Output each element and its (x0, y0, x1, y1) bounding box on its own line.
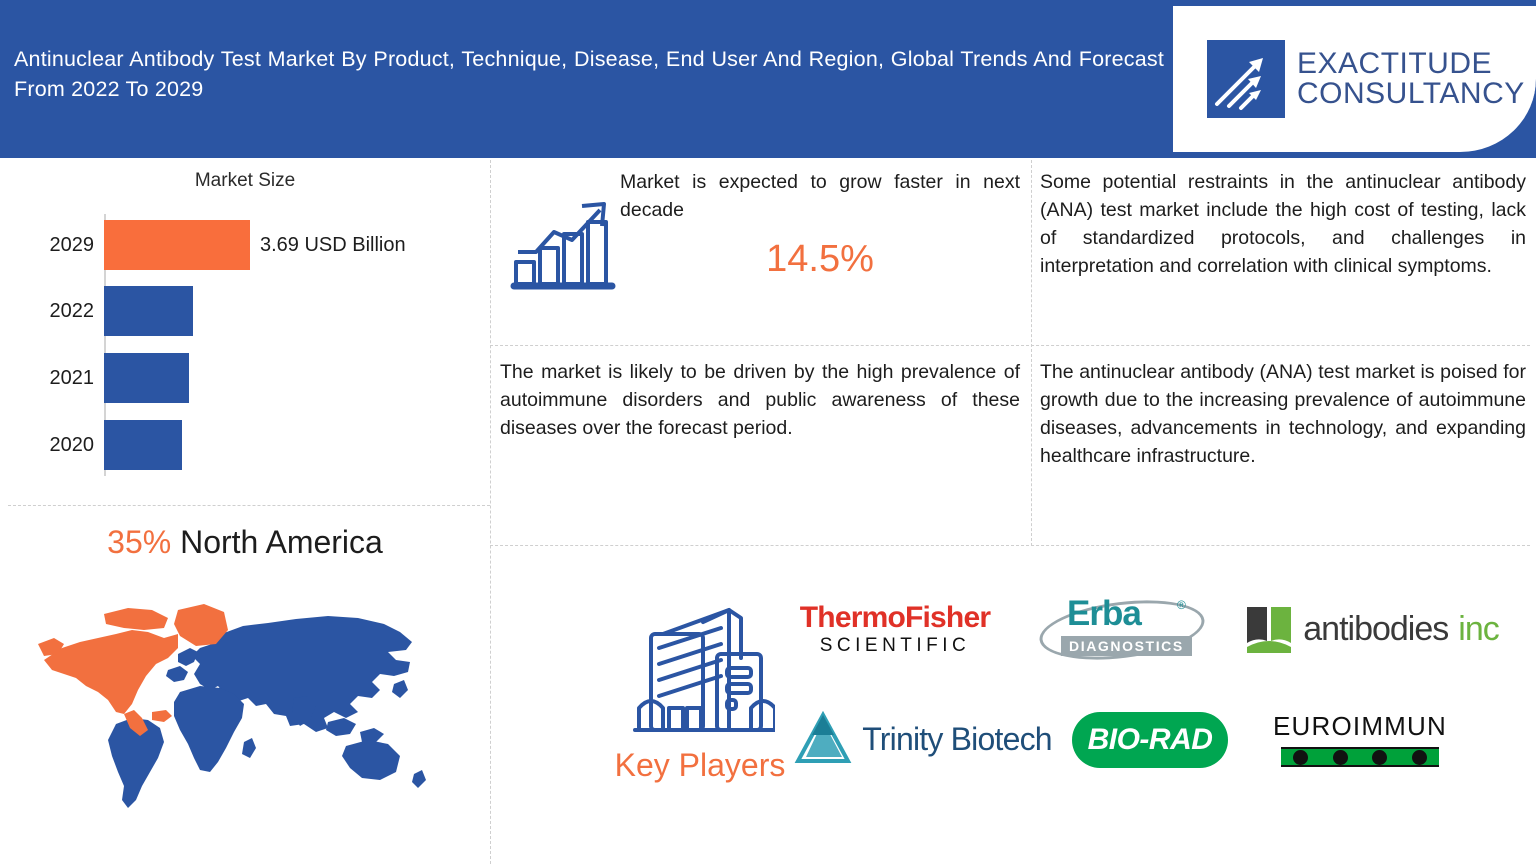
antibodies-suffix: inc (1458, 610, 1498, 649)
bar-category-label: 2020 (36, 434, 104, 457)
bar-2020[interactable] (104, 420, 182, 470)
divider-vertical-middle (1031, 160, 1032, 546)
key-players-panel: Key Players ThermoFisher SCIENTIFIC Erba… (490, 546, 1536, 864)
logo-trinity-biotech[interactable]: Trinity Biotech (788, 704, 1058, 774)
market-size-chart: Market Size 2029 3.69 USD Billion 2022 2… (0, 158, 490, 505)
erba-name: Erba (1067, 594, 1141, 634)
bar-row: 2029 3.69 USD Billion (36, 220, 476, 270)
erba-lockup: Erba ® DIAGNOSTICS (1037, 592, 1207, 666)
euroimmun-dot (1412, 750, 1427, 765)
antibodies-name: antibodies (1303, 610, 1448, 649)
page-title: Antinuclear Antibody Test Market By Prod… (14, 44, 1164, 104)
bar-2029[interactable] (104, 220, 250, 270)
trinity-triangle-icon (794, 711, 852, 767)
euroimmun-bar-graphic (1281, 747, 1439, 767)
drivers-text: The market is likely to be driven by the… (500, 358, 1020, 442)
antibodies-mark-icon (1245, 603, 1293, 655)
cagr-headline: Market is expected to grow faster in nex… (620, 168, 1020, 224)
bar-category-label: 2029 (36, 234, 104, 257)
restraints-text: Some potential restraints in the antinuc… (1040, 168, 1526, 280)
logo-euroimmun[interactable]: EUROIMMUN (1260, 706, 1460, 772)
chart-title: Market Size (0, 170, 490, 192)
erba-subtitle: DIAGNOSTICS (1061, 636, 1192, 656)
euroimmun-name: EUROIMMUN (1273, 711, 1447, 742)
company-logo: EXACTITUDE CONSULTANCY (1170, 3, 1536, 155)
euroimmun-dot (1333, 750, 1348, 765)
thermo-fisher-name: ThermoFisher (800, 603, 990, 633)
world-map (28, 586, 462, 826)
bar-2022[interactable] (104, 286, 193, 336)
region-name: North America (171, 524, 383, 560)
thermo-fisher-subtitle: SCIENTIFIC (820, 636, 971, 655)
region-percentage: 35% (107, 524, 171, 560)
logo-erba-diagnostics[interactable]: Erba ® DIAGNOSTICS (1032, 592, 1212, 666)
page-header: Antinuclear Antibody Test Market By Prod… (0, 0, 1536, 158)
bar-row: 2022 (36, 286, 476, 336)
growth-bar-chart-icon (508, 196, 620, 294)
euroimmun-dot (1372, 750, 1387, 765)
brand-name: EXACTITUDE CONSULTANCY (1297, 49, 1525, 109)
region-headline: 35% North America (0, 524, 490, 561)
outlook-text: The antinuclear antibody (ANA) test mark… (1040, 358, 1526, 470)
logo-antibodies-inc[interactable]: antibodies inc (1212, 594, 1532, 664)
bar-2021[interactable] (104, 353, 189, 403)
chart-plot-area: 2029 3.69 USD Billion 2022 2021 2020 (36, 214, 476, 476)
logo-thermo-fisher[interactable]: ThermoFisher SCIENTIFIC (770, 594, 1020, 664)
bar-category-label: 2022 (36, 300, 104, 323)
exactitude-arrows-icon (1207, 40, 1285, 118)
key-players-logos: ThermoFisher SCIENTIFIC Erba ® DIAGNOSTI… (760, 586, 1530, 816)
brand-line-2: CONSULTANCY (1297, 79, 1525, 109)
bar-value-label: 3.69 USD Billion (250, 234, 406, 257)
bar-row: 2021 (36, 353, 476, 403)
bar-row: 2020 (36, 420, 476, 470)
cagr-panel: Market is expected to grow faster in nex… (490, 158, 1030, 345)
bio-rad-name: BIO-RAD (1088, 723, 1213, 757)
logo-bio-rad[interactable]: BIO-RAD (1072, 712, 1228, 768)
cagr-value: 14.5% (620, 238, 1020, 281)
registered-icon: ® (1177, 598, 1186, 612)
euroimmun-dot (1293, 750, 1308, 765)
trinity-biotech-name: Trinity Biotech (862, 721, 1052, 758)
divider-horizontal-text (490, 345, 1530, 346)
region-share-panel: 35% North America (0, 506, 490, 864)
brand-line-1: EXACTITUDE (1297, 49, 1525, 79)
bar-category-label: 2021 (36, 367, 104, 390)
